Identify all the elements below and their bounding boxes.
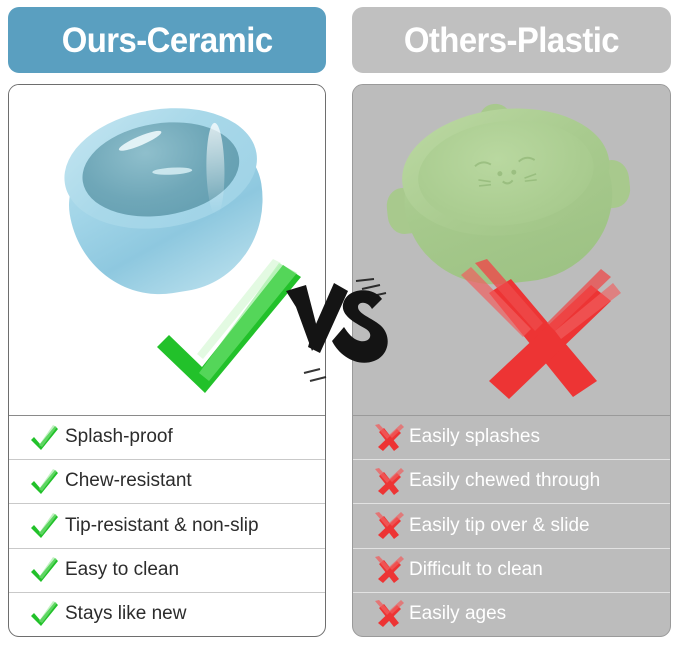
check-icon — [23, 600, 65, 628]
feature-label: Difficult to clean — [409, 560, 543, 581]
feature-label: Stays like new — [65, 604, 186, 625]
panel-others: Easily splashes Easily chewed through — [352, 84, 671, 637]
feature-list-others: Easily splashes Easily chewed through — [353, 416, 670, 636]
cross-icon — [367, 423, 409, 453]
feature-row: Chew-resistant — [9, 459, 325, 503]
comparison-board: Ours-Ceramic — [0, 0, 679, 645]
cross-icon — [367, 599, 409, 629]
panel-ours: Splash-proof Chew-resistant — [8, 84, 326, 637]
check-icon — [23, 468, 65, 496]
column-ours: Ours-Ceramic — [0, 0, 334, 645]
feature-label: Chew-resistant — [65, 471, 192, 492]
feature-label: Easily chewed through — [409, 471, 600, 492]
feature-row: Easily ages — [353, 592, 670, 636]
banner-ours: Ours-Ceramic — [8, 7, 326, 73]
feature-row: Easily chewed through — [353, 459, 670, 503]
column-others: Others-Plastic — [344, 0, 679, 645]
blue-ceramic-bowl-image — [47, 92, 284, 313]
cat-face-imprint-icon — [472, 152, 541, 193]
feature-row: Tip-resistant & non-slip — [9, 503, 325, 547]
check-icon — [23, 424, 65, 452]
feature-row: Easily splashes — [353, 416, 670, 459]
banner-ours-label: Ours-Ceramic — [62, 23, 273, 58]
check-icon — [23, 556, 65, 584]
cross-icon — [367, 555, 409, 585]
check-icon — [23, 512, 65, 540]
cross-icon — [367, 511, 409, 541]
feature-label: Splash-proof — [65, 427, 173, 448]
feature-row: Splash-proof — [9, 416, 325, 459]
feature-label: Tip-resistant & non-slip — [65, 516, 259, 537]
banner-others-label: Others-Plastic — [404, 23, 619, 58]
hero-others — [353, 85, 670, 415]
feature-list-ours: Splash-proof Chew-resistant — [9, 416, 325, 636]
feature-row: Easy to clean — [9, 548, 325, 592]
feature-label: Easy to clean — [65, 560, 179, 581]
feature-label: Easily ages — [409, 604, 506, 625]
banner-others: Others-Plastic — [352, 7, 671, 73]
feature-row: Stays like new — [9, 592, 325, 636]
hero-ours — [9, 85, 325, 415]
feature-label: Easily splashes — [409, 427, 540, 448]
feature-label: Easily tip over & slide — [409, 516, 590, 537]
cross-icon — [367, 467, 409, 497]
feature-row: Difficult to clean — [353, 548, 670, 592]
feature-row: Easily tip over & slide — [353, 503, 670, 547]
green-plastic-bowl-image — [375, 91, 641, 316]
